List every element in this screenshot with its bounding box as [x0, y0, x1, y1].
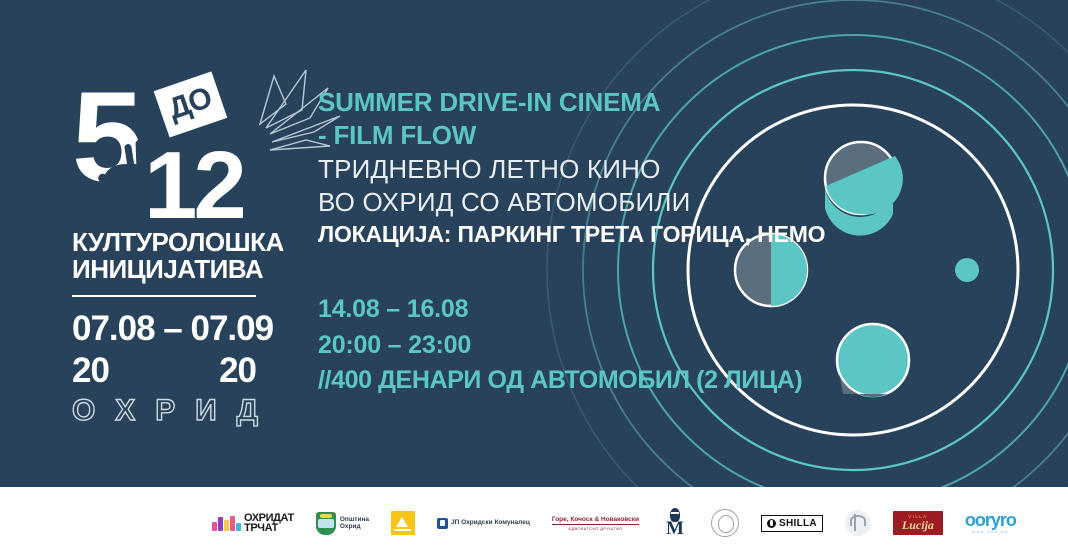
shilla-mark-icon — [767, 519, 776, 528]
logo-numeral-12: 12 — [144, 138, 243, 234]
logo-divider — [72, 295, 256, 297]
yellow-mountain-icon — [391, 511, 415, 535]
logo-numerals: 5 ДО 12 — [72, 58, 277, 243]
sponsor-footer: ОХРИДАТ ТРЧАТ Општина Охрид ЈП Охридски … — [0, 487, 1068, 559]
event-details-block: 14.08 – 16.08 20:00 – 23:00 //400 ДЕНАРИ… — [318, 292, 788, 399]
advokat-divider — [552, 524, 639, 525]
sponsor-pharmacy[interactable] — [845, 506, 871, 540]
sponsor-villa-line2: Lucija — [902, 519, 934, 531]
event-subtitle-line2: ВО ОХРИД СО АВТОМОБИЛИ — [318, 186, 788, 220]
sponsor-m-crest[interactable]: M — [661, 506, 689, 540]
event-location: ЛОКАЦИЈА: ПАРКИНГ ТРЕТА ГОРИЦА, НЕМО — [318, 220, 788, 250]
event-subtitle-line1: ТРИДНЕВНО ЛЕТНО КИНО — [318, 153, 788, 187]
city-letter-3: И — [195, 396, 217, 426]
event-times: 20:00 – 23:00 — [318, 328, 788, 364]
festival-years: 20 20 — [72, 353, 256, 388]
year-right: 20 — [219, 353, 256, 388]
event-title-line1: SUMMER DRIVE-IN CINEMA — [318, 86, 788, 119]
event-price: //400 ДЕНАРИ ОД АВТОМОБИЛ (2 ЛИЦА) — [318, 363, 788, 399]
opstina-shield-icon — [316, 512, 336, 535]
city-name: О Х Р И Д — [72, 396, 258, 426]
sponsor-advokatsko-drustvo[interactable]: Горе, Кочоск & Новаковски АДВОКАТСКО ДРУ… — [552, 506, 639, 540]
sponsor-opstina-line1: Општина — [340, 516, 369, 523]
sponsor-ohrid-trcat-line2: ТРЧАТ — [244, 523, 294, 533]
logo-badge-do: ДО — [154, 71, 227, 137]
pharmacy-icon — [845, 510, 871, 536]
org-name-line2: ИНИЦИЈАТИВА — [72, 256, 277, 283]
komunalec-badge-icon — [437, 518, 448, 529]
sponsor-duo[interactable]: ooryro www.duo.mk — [965, 506, 1016, 540]
sponsor-yellow-mark[interactable] — [391, 506, 415, 540]
sponsor-komunalec-label: ЈП Охридски Комуналец — [451, 519, 530, 526]
city-letter-2: Р — [155, 396, 175, 426]
poster-canvas: 5 ДО 12 КУЛТУРОЛОШКА ИНИЦИЈАТИВА — [0, 0, 1068, 559]
festival-dates: 07.08 – 07.09 — [72, 311, 277, 346]
sponsor-opstina-line2: Охрид — [340, 523, 369, 530]
ohrid-trcat-mark-icon — [212, 516, 241, 531]
sponsor-duo-wordmark: ooryro — [965, 512, 1016, 529]
event-dates: 14.08 – 16.08 — [318, 292, 788, 328]
festival-logo-block: 5 ДО 12 КУЛТУРОЛОШКА ИНИЦИЈАТИВА — [72, 58, 277, 426]
sponsor-duo-url: www.duo.mk — [965, 529, 1016, 534]
sponsor-advokat-line1: Горе, Кочоск & Новаковски — [552, 516, 639, 523]
sponsor-opstina-ohrid[interactable]: Општина Охрид — [316, 506, 369, 540]
sponsor-villa-lucija[interactable]: VILLA Lucija — [893, 506, 943, 540]
city-letter-1: Х — [115, 396, 135, 426]
poster-stage: 5 ДО 12 КУЛТУРОЛОШКА ИНИЦИЈАТИВА — [0, 0, 1068, 487]
sponsor-shilla[interactable]: SHILLA — [761, 506, 823, 540]
event-headline-block: SUMMER DRIVE-IN CINEMA - FILM FLOW ТРИДН… — [318, 86, 788, 250]
sponsor-advokat-line2: АДВОКАТСКО ДРУШТВО — [552, 526, 639, 531]
sponsor-m-letter: M — [661, 519, 689, 538]
event-title-line2: - FILM FLOW — [318, 119, 788, 152]
sponsor-ohrid-trcat[interactable]: ОХРИДАТ ТРЧАТ — [212, 506, 294, 540]
sponsor-shilla-label: SHILLA — [779, 518, 817, 529]
sponsor-jp-ohridski-komunalec[interactable]: ЈП Охридски Комуналец — [437, 506, 530, 540]
year-left: 20 — [72, 353, 109, 388]
city-letter-4: Д — [237, 396, 258, 426]
city-letter-0: О — [72, 396, 95, 426]
sponsor-round-seal[interactable] — [711, 506, 739, 540]
round-seal-icon — [711, 509, 739, 537]
